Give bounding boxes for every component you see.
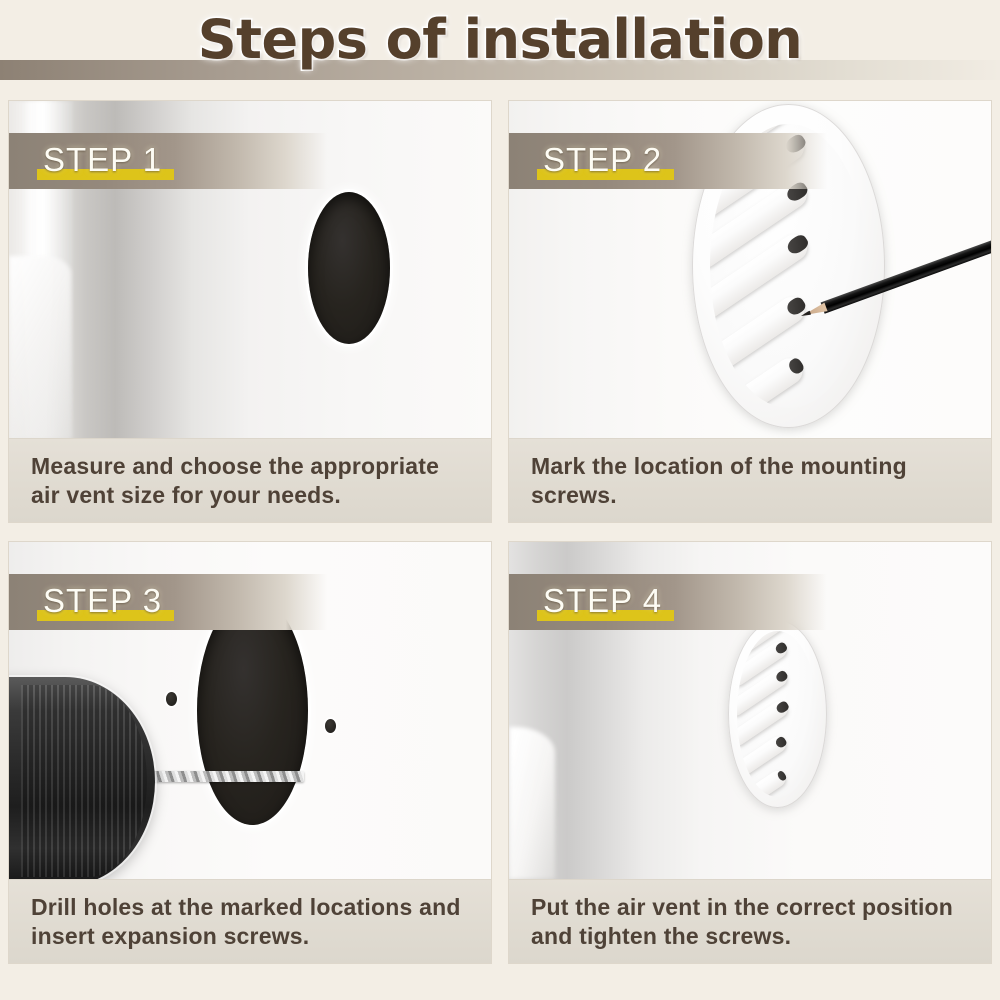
step-card-2: STEP 2 Mark the location of the mounting… [508,100,992,523]
step-card-3: STEP 3 Drill holes at the marked locatio… [8,541,492,964]
screw-mark-icon [325,719,336,733]
step-card-4: STEP 4 Put the air vent in the correct p… [508,541,992,964]
header: Steps of installation [0,0,1000,92]
step-2-caption-text: Mark the location of the mounting screws… [531,452,973,511]
air-vent-face [710,124,868,409]
page-title: Steps of installation [0,8,1000,71]
step-4-caption-text: Put the air vent in the correct position… [531,893,973,952]
installation-steps-infographic: Steps of installation STEP 1 Measure and… [0,0,1000,1000]
wall-pipe-icon [509,727,555,879]
step-card-1: STEP 1 Measure and choose the appropriat… [8,100,492,523]
vent-slat-icon [744,768,788,797]
step-2-caption: Mark the location of the mounting screws… [509,438,991,522]
step-2-illustration: STEP 2 [509,101,991,438]
pencil-graphite-tip [800,310,811,318]
step-4-caption: Put the air vent in the correct position… [509,879,991,963]
wall-pipe-base-icon [9,256,71,438]
steps-grid: STEP 1 Measure and choose the appropriat… [8,100,992,964]
step-4-illustration: STEP 4 [509,542,991,879]
wall-surface-icon [9,101,491,438]
step-1-caption: Measure and choose the appropriate air v… [9,438,491,522]
drill-bit-icon [140,771,304,782]
step-1-illustration: STEP 1 [9,101,491,438]
drill-chuck-ridges [21,685,147,877]
step-1-caption-text: Measure and choose the appropriate air v… [31,452,473,511]
step-3-illustration: STEP 3 [9,542,491,879]
installed-air-vent-icon [728,620,827,809]
round-hole-icon [308,192,390,344]
drill-chuck [9,677,155,879]
step-3-caption-text: Drill holes at the marked locations and … [31,893,473,952]
drilled-hole-icon [197,596,308,825]
air-vent-face [737,631,818,797]
step-3-caption: Drill holes at the marked locations and … [9,879,491,963]
power-drill-icon [9,677,173,879]
air-vent-icon [692,104,885,428]
